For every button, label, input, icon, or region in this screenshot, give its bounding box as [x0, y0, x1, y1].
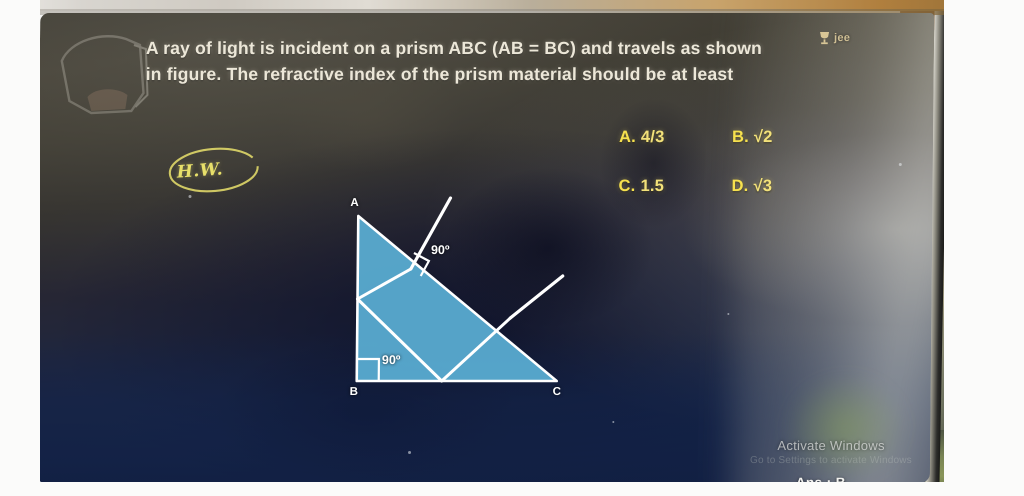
option-c-label: C. — [619, 177, 636, 195]
option-b-value: √2 — [754, 128, 773, 146]
emergent-ray — [510, 276, 562, 318]
angle-label-entry: 90º — [431, 243, 450, 257]
option-a-label: A. — [619, 128, 636, 146]
dust-speck — [727, 313, 729, 315]
angle-label-b: 90º — [382, 353, 401, 367]
jee-logo: jee — [818, 31, 850, 45]
vertex-label-b: B — [350, 386, 358, 398]
option-b-label: B. — [732, 128, 749, 146]
option-row: C.1.5 D.√3 — [618, 177, 848, 226]
option-d-label: D. — [732, 177, 749, 195]
option-a-value: 4/3 — [641, 128, 665, 146]
option-d-value: √3 — [753, 177, 772, 195]
activate-windows-watermark: Activate Windows Go to Settings to activ… — [736, 438, 926, 466]
incident-ray — [411, 198, 451, 269]
dust-speck — [188, 195, 191, 198]
option-a[interactable]: A.4/3 — [619, 128, 732, 177]
dust-speck — [408, 451, 411, 454]
answer-options: A.4/3 B.√2 C.1.5 D.√3 — [618, 128, 849, 226]
option-d[interactable]: D.√3 — [731, 177, 844, 226]
option-c-value: 1.5 — [640, 177, 664, 195]
trophy-icon — [818, 31, 831, 45]
vertex-label-a: A — [350, 197, 358, 209]
prism-diagram-svg — [291, 181, 613, 411]
photo-margin-left — [0, 0, 40, 496]
vertex-label-c: C — [553, 386, 561, 398]
dust-speck — [899, 163, 902, 166]
question-text: A ray of light is incident on a prism AB… — [146, 35, 777, 88]
monitor-screen: A ray of light is incident on a prism AB… — [36, 13, 935, 483]
option-row: A.4/3 B.√2 — [619, 128, 849, 177]
option-b[interactable]: B.√2 — [732, 128, 845, 177]
option-c[interactable]: C.1.5 — [618, 177, 731, 226]
handwritten-hw-text: H.W. — [176, 159, 223, 182]
dust-speck — [612, 421, 614, 423]
photo-of-monitor: A ray of light is incident on a prism AB… — [0, 0, 1024, 496]
screen-green-reflection — [760, 353, 931, 483]
watermark-subtitle: Go to Settings to activate Windows — [736, 455, 926, 466]
jee-logo-text: jee — [834, 32, 850, 44]
prism-ray-figure: A B C 90º 90º — [291, 181, 613, 411]
photo-margin-right — [944, 0, 1024, 496]
photo-margin-bottom — [0, 482, 1024, 496]
watermark-title: Activate Windows — [736, 438, 926, 453]
